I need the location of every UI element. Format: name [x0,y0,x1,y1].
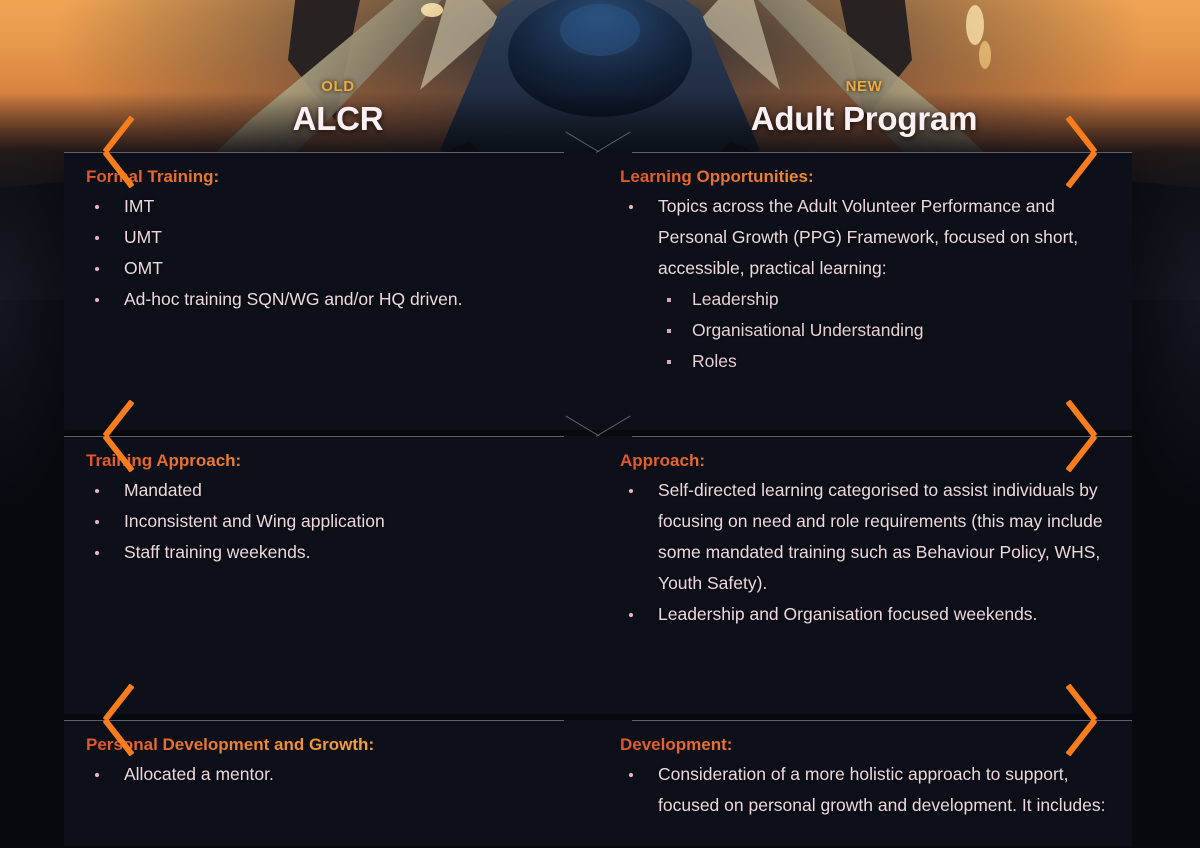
section-heading: Formal Training: [86,166,576,188]
slide-canvas: OLD ALCR NEW Adult Program Formal Traini… [0,0,1200,848]
column-header-new: NEW Adult Program [604,78,1124,138]
sub-list-item: Roles [620,346,1110,377]
column-kicker-old: OLD [78,78,598,96]
list-item: UMT [86,222,576,253]
bullet-list: Allocated a mentor. [86,759,576,790]
bullet-list: Mandated Inconsistent and Wing applicati… [86,475,576,568]
comparison-row-3: Personal Development and Growth: Allocat… [64,720,1136,846]
list-item: Self-directed learning categorised to as… [620,475,1110,599]
panel-new-learning-opportunities: Learning Opportunities: Topics across th… [598,152,1132,430]
sub-list-item: Leadership [620,284,1110,315]
list-item: Allocated a mentor. [86,759,576,790]
list-item: OMT [86,253,576,284]
comparison-row-1: Formal Training: IMT UMT OMT Ad-hoc trai… [64,152,1136,430]
bullet-list: Self-directed learning categorised to as… [620,475,1110,630]
section-heading: Learning Opportunities: [620,166,1110,188]
section-heading: Approach: [620,450,1110,472]
comparison-grid: Formal Training: IMT UMT OMT Ad-hoc trai… [64,152,1136,846]
list-item: Mandated [86,475,576,506]
section-heading: Training Approach: [86,450,576,472]
column-header-old: OLD ALCR [78,78,598,138]
list-item: IMT [86,191,576,222]
list-item: Staff training weekends. [86,537,576,568]
panel-new-approach: Approach: Self-directed learning categor… [598,436,1132,714]
column-title-adult-program: Adult Program [604,100,1124,138]
bullet-list: Consideration of a more holistic approac… [620,759,1110,821]
section-heading: Personal Development and Growth: [86,734,576,756]
list-item: Leadership and Organisation focused week… [620,599,1110,630]
list-item: Ad-hoc training SQN/WG and/or HQ driven. [86,284,576,315]
column-title-alcr: ALCR [78,100,598,138]
list-item: Inconsistent and Wing application [86,506,576,537]
bullet-list: Topics across the Adult Volunteer Perfor… [620,191,1110,284]
panel-old-personal-development: Personal Development and Growth: Allocat… [64,720,598,846]
panel-old-training-approach: Training Approach: Mandated Inconsistent… [64,436,598,714]
panel-new-development: Development: Consideration of a more hol… [598,720,1132,846]
sub-bullet-list: Leadership Organisational Understanding … [620,284,1110,377]
list-item: Topics across the Adult Volunteer Perfor… [620,191,1110,284]
panel-old-formal-training: Formal Training: IMT UMT OMT Ad-hoc trai… [64,152,598,430]
bullet-list: IMT UMT OMT Ad-hoc training SQN/WG and/o… [86,191,576,315]
sub-list-item: Organisational Understanding [620,315,1110,346]
list-item: Consideration of a more holistic approac… [620,759,1110,821]
section-heading: Development: [620,734,1110,756]
comparison-row-2: Training Approach: Mandated Inconsistent… [64,436,1136,714]
column-kicker-new: NEW [604,78,1124,96]
